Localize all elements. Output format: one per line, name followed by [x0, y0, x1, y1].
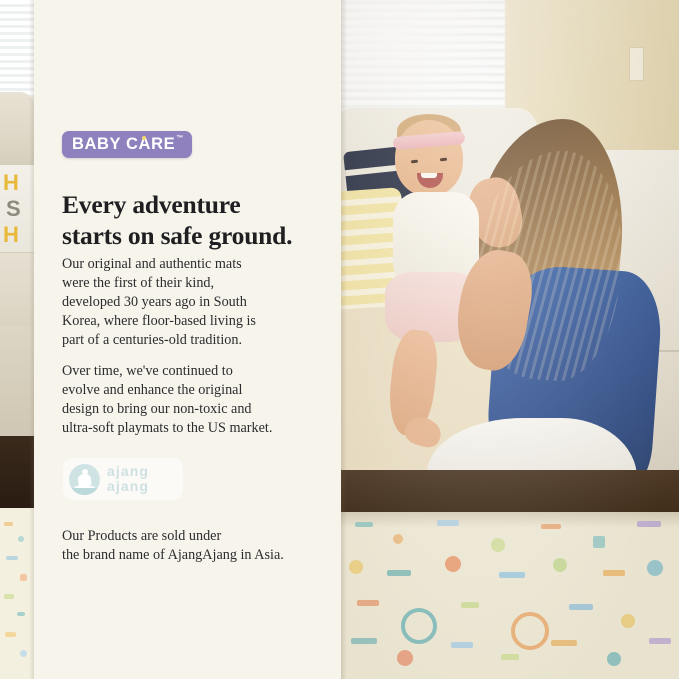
brand-badge-accent-dot: [142, 136, 146, 140]
brand-badge-label: BABY CARE: [72, 136, 175, 153]
paragraph-line: developed 30 years ago in South: [62, 293, 314, 312]
paragraph-line: ultra-soft playmats to the US market.: [62, 419, 314, 438]
photo-wall-outlet: [629, 47, 644, 81]
paragraph-line: Korea, where floor-based living is: [62, 312, 314, 331]
brand-story-panel-screenshot: H S H BABY CARE ™ Every adventure starts…: [0, 0, 679, 679]
photo-playmat: [341, 512, 679, 679]
ajang-ajang-mark-icon: [69, 464, 100, 495]
footer-copy: Our Products are sold under the brand na…: [62, 527, 318, 565]
ajang-word-line-2: ajang: [107, 479, 149, 494]
body-paragraph-2: Over time, we've continued to evolve and…: [62, 362, 314, 438]
lifestyle-photo: [341, 0, 679, 679]
footer-line: Our Products are sold under: [62, 527, 318, 546]
strip-pillow-letter: H: [3, 172, 19, 194]
ajang-ajang-wordmark: ajang ajang: [107, 464, 149, 494]
page-headline: Every adventure starts on safe ground.: [62, 189, 322, 251]
paragraph-line: were the first of their kind,: [62, 274, 314, 293]
baby-care-brand-badge: BABY CARE ™: [62, 131, 192, 158]
paragraph-line: Our original and authentic mats: [62, 255, 314, 274]
photo-baby-teeth: [421, 173, 437, 178]
paragraph-line: evolve and enhance the original: [62, 381, 314, 400]
paragraph-line: Over time, we've continued to: [62, 362, 314, 381]
body-paragraph-1: Our original and authentic mats were the…: [62, 255, 314, 350]
paragraph-line: part of a centuries-old tradition.: [62, 331, 314, 350]
trademark-icon: ™: [176, 135, 183, 142]
photo-baby-top: [393, 192, 479, 284]
strip-pillow-letter: H: [3, 224, 19, 246]
headline-line-1: Every adventure: [62, 189, 322, 220]
left-photo-strip: H S H: [0, 0, 34, 679]
ajang-word-line-1: ajang: [107, 464, 149, 479]
footer-line: the brand name of AjangAjang in Asia.: [62, 546, 318, 565]
ajang-ajang-logo: ajang ajang: [63, 458, 183, 500]
strip-pillow-letter: S: [6, 198, 21, 220]
headline-line-2: starts on safe ground.: [62, 220, 322, 251]
paragraph-line: design to bring our non-toxic and: [62, 400, 314, 419]
